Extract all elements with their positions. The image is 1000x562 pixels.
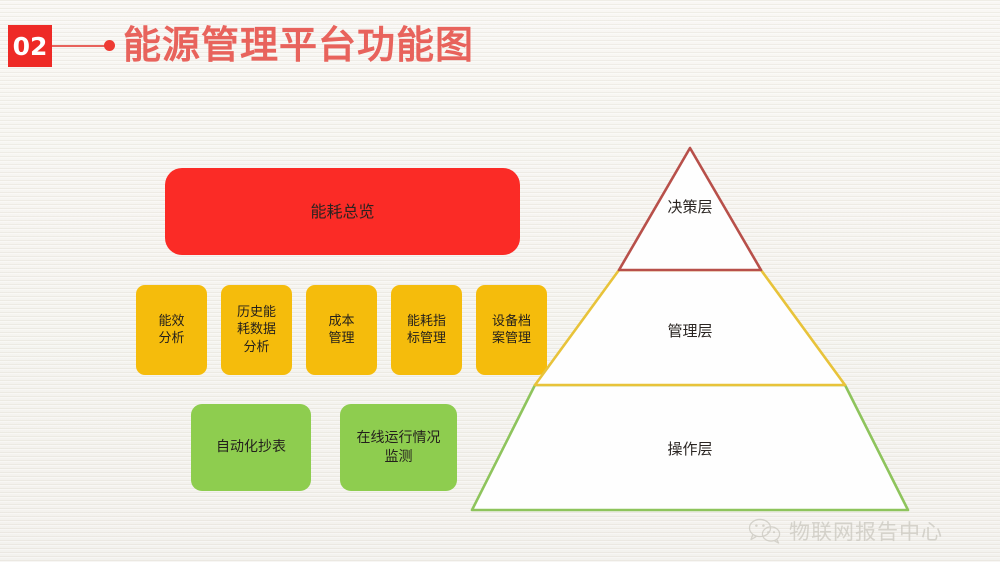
function-box-cost-management[interactable]: 成本 管理 (306, 285, 377, 375)
wechat-logo-icon (748, 518, 782, 544)
function-box-online-operation-monitoring[interactable]: 在线运行情况 监测 (340, 404, 457, 491)
slide-header: 02 能源管理平台功能图 (0, 0, 1000, 96)
section-number-badge: 02 (8, 25, 52, 67)
section-number-label: 02 (13, 34, 48, 59)
watermark-label: 物联网报告中心 (789, 516, 943, 546)
pyramid-level-label-decision: 决策层 (667, 196, 712, 217)
watermark: 物联网报告中心 (748, 516, 943, 546)
function-box-label: 在线运行情况 监测 (357, 429, 441, 466)
page-title: 能源管理平台功能图 (123, 20, 474, 70)
function-box-energy-efficiency-analysis[interactable]: 能效 分析 (136, 285, 207, 375)
header-connector-line (52, 45, 109, 47)
function-box-label: 历史能 耗数据 分析 (237, 304, 276, 355)
hierarchy-pyramid-diagram: 决策层 管理层 操作层 (455, 130, 930, 530)
pyramid-level-label-operation: 操作层 (667, 438, 712, 459)
function-box-energy-index-management[interactable]: 能耗指 标管理 (391, 285, 462, 375)
function-box-label: 能耗指 标管理 (407, 313, 446, 347)
slide-canvas: 02 能源管理平台功能图 能耗总览 能效 分析 历史能 耗数据 分析 成本 管理… (0, 0, 1000, 562)
bullet-dot-icon (104, 40, 115, 51)
function-box-label: 自动化抄表 (216, 438, 286, 456)
function-box-automated-meter-reading[interactable]: 自动化抄表 (191, 404, 311, 491)
function-box-label: 成本 管理 (328, 313, 354, 347)
function-box-historical-energy-data-analysis[interactable]: 历史能 耗数据 分析 (221, 285, 292, 375)
pyramid-level-label-management: 管理层 (667, 320, 712, 341)
function-box-label: 能效 分析 (158, 313, 184, 347)
function-box-label: 能耗总览 (310, 201, 374, 222)
